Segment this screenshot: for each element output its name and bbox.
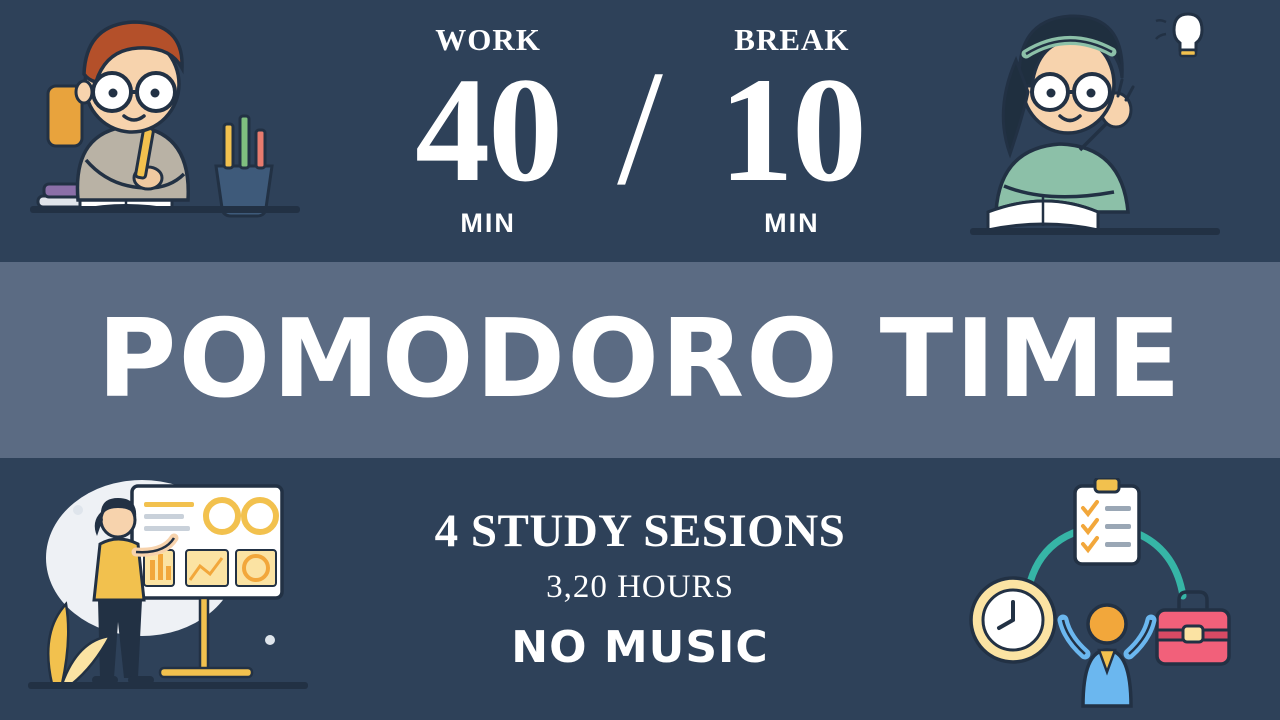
- study-sessions-text: 4 STUDY SESIONS: [435, 508, 846, 555]
- productivity-icons-illustration: [955, 478, 1255, 713]
- work-unit: MIN: [460, 208, 516, 239]
- session-summary: 4 STUDY SESIONS 3,20 HOURS NO MUSIC: [320, 458, 960, 720]
- total-hours-text: 3,20 HOURS: [546, 571, 734, 604]
- pomodoro-timer-screen: WORK 40 MIN / BREAK 10 MIN: [0, 0, 1280, 720]
- break-minutes: 10: [719, 57, 865, 204]
- banner: POMODORO TIME: [0, 262, 1280, 458]
- bottom-section: 4 STUDY SESIONS 3,20 HOURS NO MUSIC: [0, 458, 1280, 720]
- top-section: WORK 40 MIN / BREAK 10 MIN: [0, 0, 1280, 262]
- page-title: POMODORO TIME: [97, 306, 1182, 414]
- woman-presenting-board-illustration: [22, 468, 322, 718]
- break-timer: BREAK 10 MIN: [667, 24, 917, 239]
- timer-separator: /: [613, 45, 667, 210]
- music-status-text: NO MUSIC: [511, 626, 768, 670]
- work-minutes: 40: [415, 57, 561, 204]
- girl-reading-illustration: [960, 0, 1270, 262]
- work-timer: WORK 40 MIN: [363, 24, 613, 239]
- break-unit: MIN: [764, 208, 820, 239]
- timer-display: WORK 40 MIN / BREAK 10 MIN: [330, 0, 950, 262]
- boy-studying-illustration: [20, 0, 320, 262]
